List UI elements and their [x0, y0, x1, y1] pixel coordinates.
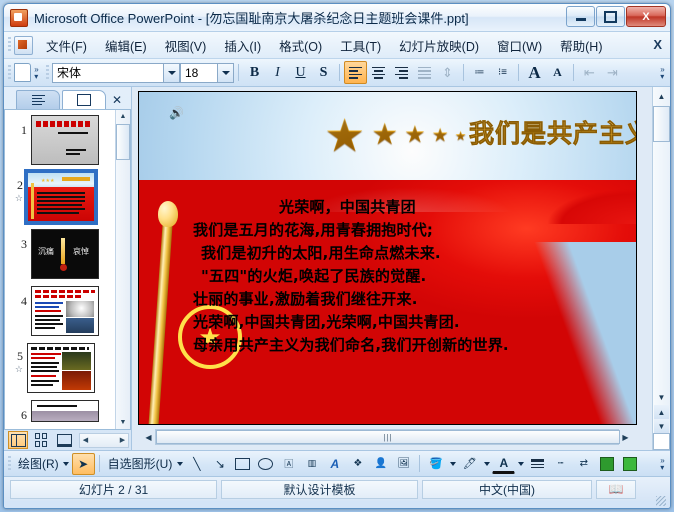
animation-indicator-icon: ☆: [4, 364, 27, 375]
scroll-up-arrow-icon[interactable]: ▲: [654, 89, 669, 104]
vertical-text-box-icon[interactable]: ▥: [300, 453, 323, 475]
new-document-icon[interactable]: [14, 63, 31, 82]
scroll-left-arrow-icon[interactable]: ◀: [142, 430, 155, 444]
slide-horizontal-scrollbar[interactable]: ◀ ||| ▶: [138, 425, 650, 447]
menu-item-insert[interactable]: 插入(I): [215, 34, 270, 57]
animation-indicator-icon: ☆: [4, 193, 27, 204]
line-icon[interactable]: ╲: [185, 453, 208, 475]
italic-button[interactable]: I: [266, 61, 289, 84]
list-item[interactable]: 5 ☆: [5, 343, 115, 393]
star-icon: ★: [404, 123, 426, 147]
powerpoint-icon: [10, 9, 28, 27]
lyric-line: 光荣啊，中国共青团: [139, 196, 636, 219]
toolbar-grip-handle-1[interactable]: [8, 65, 11, 81]
text-box-icon[interactable]: 🄰: [277, 453, 300, 475]
formatting-toolbar: »▾ 宋体 18 B I U S ⇕ ≔ ⁝≡ A A: [4, 59, 670, 87]
list-item[interactable]: 1: [5, 115, 115, 165]
slide-title[interactable]: 我们是共产主义接班人: [469, 114, 637, 150]
autoshapes-dropdown-icon[interactable]: [174, 455, 185, 473]
slide-sorter-view-button[interactable]: [31, 431, 51, 449]
slide-number: 4: [5, 286, 31, 309]
menu-item-tools[interactable]: 工具(T): [331, 34, 390, 57]
line-style-icon[interactable]: [526, 453, 549, 475]
word-art-icon[interactable]: A: [323, 453, 346, 475]
slide-meta: 2 ☆: [5, 172, 27, 204]
browse-object-button[interactable]: [653, 433, 670, 450]
toolbar-separator: [419, 455, 420, 472]
slide-thumbnail-4[interactable]: [31, 286, 99, 336]
lyric-line: 母亲用共产主义为我们命名,我们开创新的世界.: [139, 334, 636, 357]
scrollbar-thumb[interactable]: [653, 106, 670, 142]
slide-number: 3: [5, 229, 31, 252]
diagram-icon[interactable]: ❖: [346, 453, 369, 475]
slide-thumbnail-list[interactable]: 1 2 ☆: [4, 109, 131, 430]
increase-indent-icon[interactable]: ⇥: [601, 61, 624, 84]
menu-item-slideshow[interactable]: 幻灯片放映(D): [390, 34, 488, 57]
toolbar-separator: [463, 64, 464, 81]
slides-tab-icon: [77, 94, 91, 106]
star-icon: ★: [455, 129, 467, 142]
clip-art-icon[interactable]: 👤: [369, 453, 392, 475]
spell-check-icon[interactable]: 📖: [596, 480, 636, 499]
star-group: ★ ★ ★ ★ ★: [324, 112, 466, 158]
sound-icon[interactable]: 🔊: [169, 107, 182, 119]
font-size-input[interactable]: 18: [180, 63, 218, 83]
close-pane-button[interactable]: ✕: [112, 93, 122, 107]
star-icon: ★: [432, 126, 449, 145]
slide-thumbnail-6[interactable]: [31, 400, 99, 422]
title-bar: Microsoft Office PowerPoint - [勿忘国耻南京大屠杀…: [4, 4, 670, 32]
maximize-button[interactable]: [596, 6, 625, 27]
slide-show-button[interactable]: [54, 431, 74, 449]
slide-editing-pane: 🔊 ★ ★ ★ ★ ★ 我们是共产主义接班人 ★ 光荣啊，中国共青团: [132, 87, 670, 450]
menu-item-view[interactable]: 视图(V): [156, 34, 216, 57]
resize-grip[interactable]: [656, 496, 666, 506]
decrease-font-size-button[interactable]: A: [546, 61, 569, 84]
select-arrow-icon[interactable]: ➤: [72, 453, 95, 475]
list-item[interactable]: 2 ☆ ★★★: [5, 172, 115, 222]
toolbar-separator: [99, 455, 100, 472]
align-right-icon[interactable]: [390, 61, 413, 84]
star-icon: ★: [371, 120, 398, 150]
pane-tab-row: ✕: [4, 87, 131, 109]
line-spacing-icon[interactable]: ⇕: [436, 61, 459, 84]
drawing-toolbar: 绘图(R) ➤ 自选图形(U) ╲ ↘ 🄰 ▥ A ❖ 👤 🖼 🪣 🖊 A ┉ …: [4, 450, 670, 477]
normal-view-button[interactable]: [8, 431, 28, 449]
line-color-icon[interactable]: 🖊: [458, 453, 481, 475]
menu-grip-handle[interactable]: [8, 37, 11, 53]
lyric-line: "五四"的火炬,唤起了民族的觉醒.: [139, 265, 636, 288]
status-bar: 幻灯片 2 / 31 默认设计模板 中文(中国) 📖: [4, 477, 670, 501]
increase-font-size-button[interactable]: A: [523, 61, 546, 84]
align-left-icon[interactable]: [344, 61, 367, 84]
menu-bar: 文件(F) 编辑(E) 视图(V) 插入(I) 格式(O) 工具(T) 幻灯片放…: [4, 32, 670, 59]
slide-canvas-area[interactable]: 🔊 ★ ★ ★ ★ ★ 我们是共产主义接班人 ★ 光荣啊，中国共青团: [132, 87, 652, 450]
arrow-icon[interactable]: ↘: [208, 453, 231, 475]
drawing-toolbar-grip[interactable]: [8, 456, 11, 472]
list-item[interactable]: 4: [5, 286, 115, 336]
line-color-dropdown-icon[interactable]: [481, 455, 492, 473]
scroll-down-arrow-icon[interactable]: ▼: [654, 390, 669, 405]
scroll-up-arrow-icon[interactable]: ▲: [117, 110, 129, 123]
close-button[interactable]: X: [626, 6, 666, 27]
font-name-dropdown-icon[interactable]: [163, 63, 180, 83]
scroll-right-arrow-icon[interactable]: ▶: [619, 430, 632, 444]
window-title: Microsoft Office PowerPoint - [勿忘国耻南京大屠杀…: [34, 8, 469, 27]
thumbnail-scrollbar[interactable]: ▲ ▼: [115, 110, 130, 429]
current-slide[interactable]: 🔊 ★ ★ ★ ★ ★ 我们是共产主义接班人 ★ 光荣啊，中国共青团: [138, 91, 637, 425]
slide-counter: 幻灯片 2 / 31: [10, 480, 217, 499]
scrollbar-thumb[interactable]: [116, 124, 130, 160]
lyric-line: 壮丽的事业,激励着我们继往开来.: [139, 288, 636, 311]
slide-number: 1: [5, 115, 31, 138]
arrow-style-icon[interactable]: ⇄: [572, 453, 595, 475]
toolbar-overflow-button-1[interactable]: »▾: [31, 63, 42, 83]
window-controls: X: [566, 6, 666, 27]
font-name-input[interactable]: 宋体: [52, 63, 164, 83]
font-size-dropdown-icon[interactable]: [217, 63, 234, 83]
font-color-icon[interactable]: A: [492, 454, 515, 474]
scrollbar-thumb[interactable]: |||: [156, 430, 620, 444]
3d-style-icon[interactable]: [618, 453, 641, 475]
lyric-line: 我们是初升的太阳,用生命点燃未来.: [139, 242, 636, 265]
slide-thumbnail-1[interactable]: [31, 115, 99, 165]
numbered-list-icon[interactable]: ≔: [468, 61, 491, 84]
menu-item-help[interactable]: 帮助(H): [551, 34, 611, 57]
underline-button[interactable]: U: [289, 61, 312, 84]
lyric-line: 光荣啊,中国共青团,光荣啊,中国共青团.: [139, 311, 636, 334]
font-size-value: 18: [181, 66, 198, 80]
fill-color-icon[interactable]: 🪣: [424, 453, 447, 475]
scroll-right-arrow-icon[interactable]: ▶: [117, 436, 128, 444]
tab-outline[interactable]: [16, 90, 60, 109]
slide-number: 6: [5, 400, 31, 423]
align-justify-icon[interactable]: [413, 61, 436, 84]
toolbar-overflow-button-2[interactable]: »▾: [657, 63, 668, 83]
slide-vertical-scrollbar[interactable]: ▲ ▼ ▲ ▼: [652, 87, 670, 450]
scroll-down-arrow-icon[interactable]: ▼: [117, 416, 129, 429]
menu-item-format[interactable]: 格式(O): [270, 34, 331, 57]
menu-item-window[interactable]: 窗口(W): [488, 34, 551, 57]
star-icon: ★: [324, 112, 365, 158]
insert-picture-icon[interactable]: 🖼: [392, 453, 415, 475]
slide-body-text[interactable]: 光荣啊，中国共青团 我们是五月的花海,用青春拥抱时代; 我们是初升的太阳,用生命…: [139, 196, 636, 357]
slide-thumbnail-5[interactable]: [27, 343, 95, 393]
shadow-style-icon[interactable]: [595, 453, 618, 475]
list-item[interactable]: 3 沉痛 哀悼: [5, 229, 115, 279]
toolbar-separator: [238, 64, 239, 81]
thumbnail-container: 1 2 ☆: [5, 110, 115, 429]
lyric-line: 我们是五月的花海,用青春拥抱时代;: [139, 219, 636, 242]
slide-navigator-pane: ✕ 1 2: [4, 87, 132, 450]
decrease-indent-icon[interactable]: ⇤: [578, 61, 601, 84]
bold-button[interactable]: B: [243, 61, 266, 84]
language-label[interactable]: 中文(中国): [422, 480, 592, 499]
align-center-icon[interactable]: [367, 61, 390, 84]
autoshapes-menu-button[interactable]: 自选图形(U): [104, 455, 175, 472]
draw-menu-button[interactable]: 绘图(R): [14, 455, 61, 472]
list-item[interactable]: 6: [5, 400, 115, 423]
tab-slides[interactable]: [62, 90, 106, 109]
font-name-value: 宋体: [53, 64, 81, 81]
powerpoint-window: Microsoft Office PowerPoint - [勿忘国耻南京大屠杀…: [3, 3, 671, 509]
minimize-button[interactable]: [566, 6, 595, 27]
toolbar-separator: [573, 64, 574, 81]
text-shadow-button[interactable]: S: [312, 61, 335, 84]
toolbar-grip-handle-2[interactable]: [46, 65, 49, 81]
slide-meta: 5 ☆: [5, 343, 27, 375]
slide-thumbnail-2[interactable]: ★★★: [27, 172, 95, 222]
document-menu-icon[interactable]: [14, 36, 33, 55]
scrollbar-track[interactable]: |||: [155, 429, 619, 445]
design-template-label[interactable]: 默认设计模板: [221, 480, 418, 499]
previous-slide-button[interactable]: ▲: [654, 405, 669, 419]
toolbar-separator: [339, 64, 340, 81]
draw-dropdown-icon[interactable]: [61, 455, 72, 473]
main-work-area: ✕ 1 2: [4, 87, 670, 450]
scroll-left-arrow-icon[interactable]: ◀: [80, 436, 91, 444]
slide-thumbnail-3[interactable]: 沉痛 哀悼: [31, 229, 99, 279]
view-buttons-row: ◀ ▶: [4, 430, 131, 450]
rectangle-icon[interactable]: [231, 453, 254, 475]
close-document-button[interactable]: X: [653, 37, 662, 52]
dash-style-icon[interactable]: ┉: [549, 453, 572, 475]
slide-number: 5: [4, 343, 27, 364]
slide-number: 2: [4, 172, 27, 193]
menu-item-file[interactable]: 文件(F): [37, 34, 96, 57]
next-slide-button[interactable]: ▼: [654, 419, 669, 433]
toolbar-separator: [518, 64, 519, 81]
font-color-dropdown-icon[interactable]: [515, 455, 526, 473]
thumbnail-horizontal-scrollbar[interactable]: ◀ ▶: [79, 433, 129, 448]
menu-item-edit[interactable]: 编辑(E): [96, 34, 156, 57]
drawing-toolbar-overflow-button[interactable]: »▾: [657, 454, 668, 474]
bulleted-list-icon[interactable]: ⁝≡: [491, 61, 514, 84]
fill-color-dropdown-icon[interactable]: [447, 455, 458, 473]
outline-tab-icon: [32, 95, 45, 106]
oval-icon[interactable]: [254, 453, 277, 475]
